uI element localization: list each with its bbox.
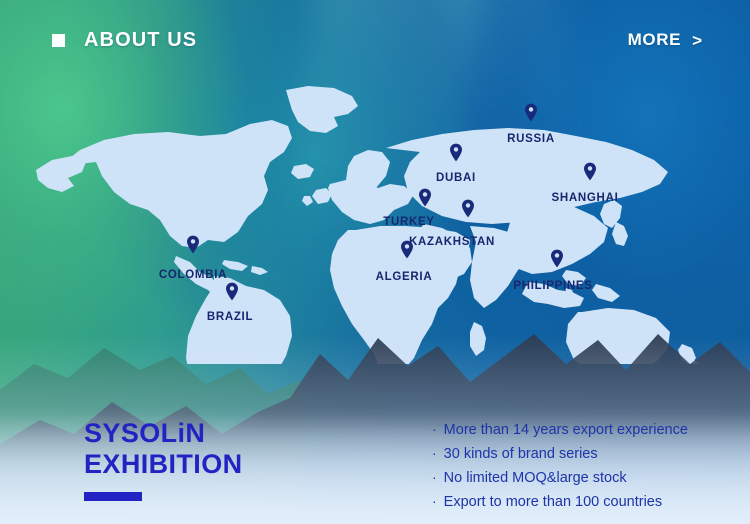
map-label-russia: RUSSIA <box>507 133 555 145</box>
feature-item: ·30 kinds of brand series <box>432 442 688 465</box>
bullet-dot-icon: · <box>432 466 437 488</box>
map-label-colombia: COLOMBIA <box>159 269 227 281</box>
map-label-shanghai: SHANGHAI <box>552 192 619 204</box>
bullet-dot-icon: · <box>432 418 437 440</box>
map-label-philippines: PHILIPPINES <box>513 280 592 292</box>
header: ABOUT US MORE > <box>0 0 750 82</box>
about-us-link[interactable]: ABOUT US <box>52 29 197 52</box>
brand-line-2: EXHIBITION <box>84 449 243 480</box>
map-label-brazil: BRAZIL <box>207 311 253 323</box>
more-link[interactable]: MORE > <box>628 30 702 50</box>
map-pin-icon[interactable] <box>550 249 564 268</box>
more-label: MORE <box>628 30 681 50</box>
map-pin-icon[interactable] <box>449 143 463 162</box>
bullet-dot-icon: · <box>432 490 437 512</box>
poster-canvas: ABOUT US MORE > RUSSIADUBAISHANGHAITURKE… <box>0 0 750 524</box>
brand-line-1: SYSOLiN <box>84 418 243 449</box>
brand-block: SYSOLiN EXHIBITION <box>84 418 243 501</box>
bullet-dot-icon: · <box>432 442 437 464</box>
map-pin-icon[interactable] <box>583 162 597 181</box>
map-pin-icon[interactable] <box>524 103 538 122</box>
feature-item: ·Export to more than 100 countries <box>432 490 688 513</box>
map-pin-icon[interactable] <box>418 188 432 207</box>
square-bullet-icon <box>52 34 65 47</box>
feature-text: More than 14 years export experience <box>444 419 688 441</box>
map-pin-icon[interactable] <box>225 282 239 301</box>
map-label-kazakhstan: KAZAKHSTAN <box>409 236 495 248</box>
map-label-algeria: ALGERIA <box>376 271 433 283</box>
map-pin-icon[interactable] <box>186 235 200 254</box>
about-us-label: ABOUT US <box>84 29 197 52</box>
map-pin-icon[interactable] <box>400 240 414 259</box>
brand-underline-rule <box>84 492 142 501</box>
feature-list: ·More than 14 years export experience·30… <box>432 418 688 514</box>
chevron-right-icon: > <box>692 32 702 49</box>
feature-item: ·No limited MOQ&large stock <box>432 466 688 489</box>
feature-item: ·More than 14 years export experience <box>432 418 688 441</box>
map-label-turkey: TURKEY <box>383 216 434 228</box>
feature-text: 30 kinds of brand series <box>444 443 598 465</box>
map-label-dubai: DUBAI <box>436 172 476 184</box>
feature-text: Export to more than 100 countries <box>444 491 662 513</box>
feature-text: No limited MOQ&large stock <box>444 467 627 489</box>
map-pin-icon[interactable] <box>461 199 475 218</box>
